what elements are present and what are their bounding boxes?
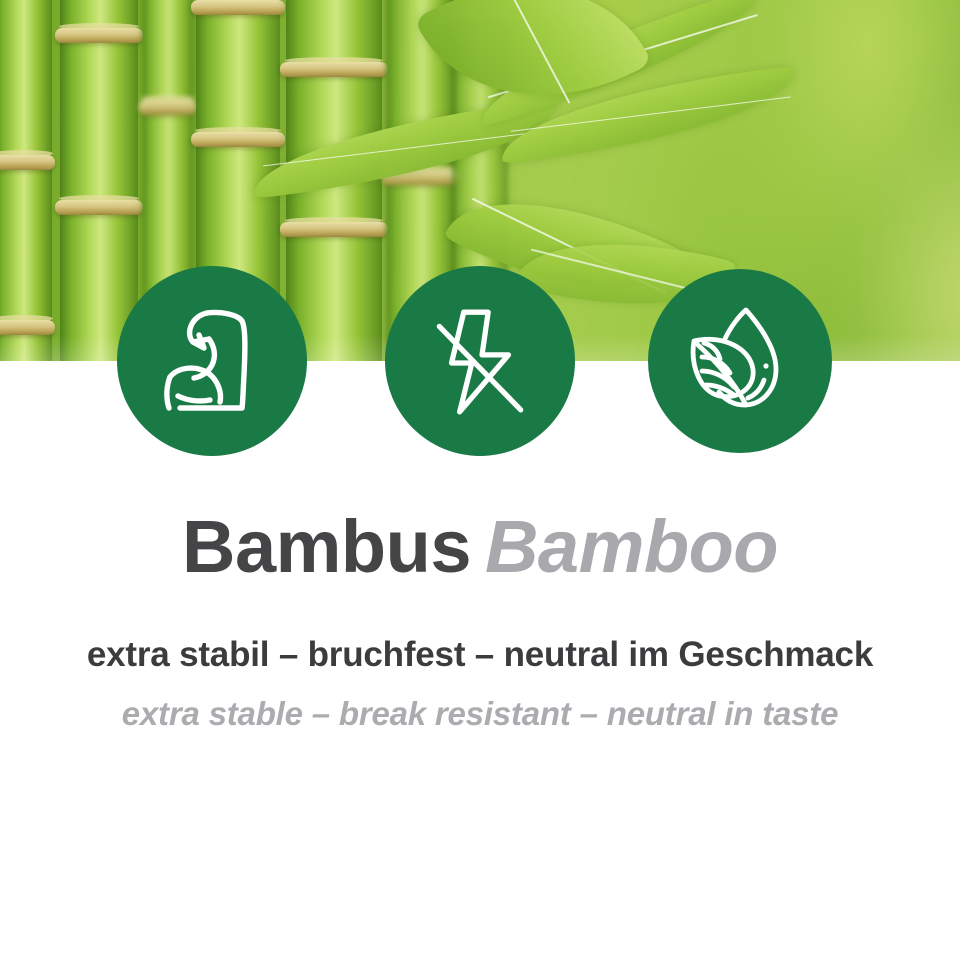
title-english: Bamboo	[485, 505, 778, 588]
title-german: Bambus	[182, 505, 471, 588]
claim-german: extra stabil – bruchfest – neutral im Ge…	[0, 631, 960, 679]
badge-neutral-taste[interactable]	[648, 269, 832, 453]
no-electricity-lightning-bolt-slashed-icon	[419, 300, 541, 422]
bamboo-cane	[60, 0, 138, 361]
badge-break-resistant[interactable]	[385, 266, 575, 456]
claim-english: extra stable – break resistant – neutral…	[0, 690, 960, 738]
leaf-in-water-droplet-icon	[680, 301, 800, 421]
page-title: BambusBamboo	[0, 499, 960, 595]
badge-extra-stable[interactable]	[117, 266, 307, 456]
bamboo-product-banner: BambusBamboo extra stabil – bruchfest – …	[0, 0, 960, 960]
bamboo-cane	[0, 0, 52, 361]
flexed-biceps-icon	[152, 301, 272, 421]
